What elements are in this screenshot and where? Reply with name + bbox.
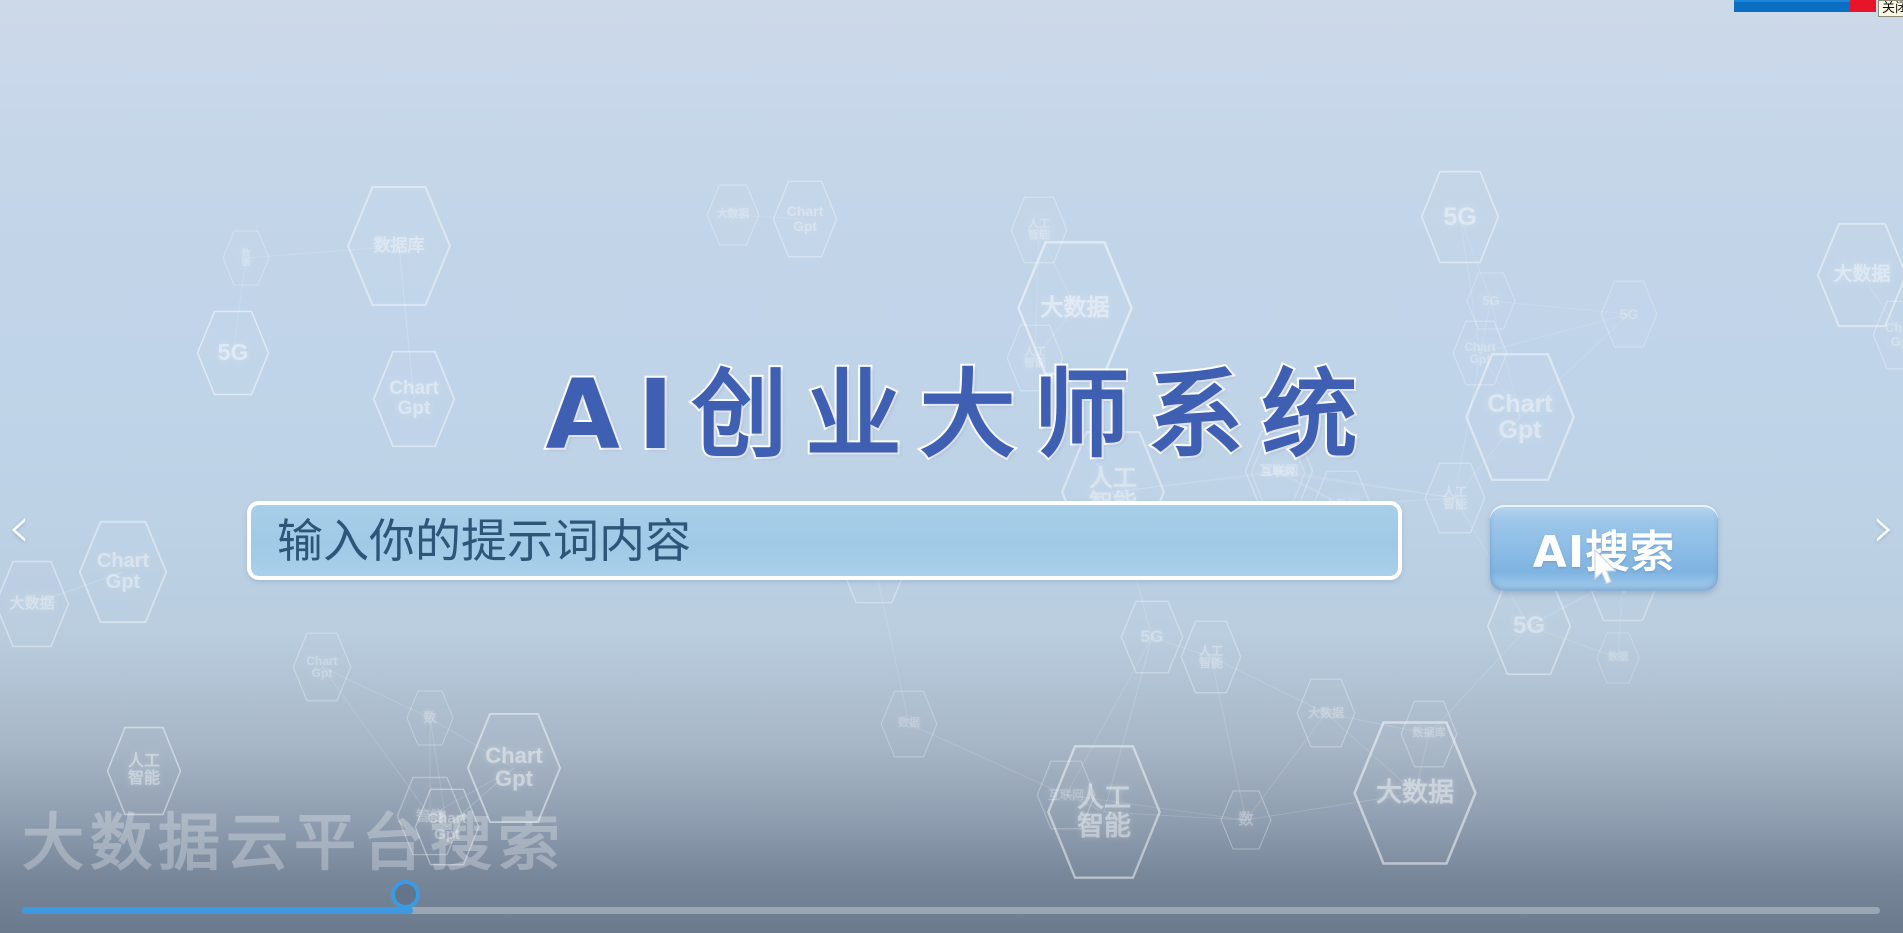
background-hexagon-label: 数据 [880, 690, 938, 758]
search-input[interactable] [251, 505, 1398, 576]
background-hexagon: 数据 [1596, 632, 1640, 684]
window-close-button[interactable] [1850, 0, 1876, 12]
background-hexagon-label: 大数据 [1296, 678, 1356, 748]
app-root: 数据库数 据5GChart GptChart Gpt大数据Chart Gpt数人… [0, 0, 1903, 933]
background-hexagon-label: 数 [1220, 790, 1272, 850]
background-hexagon: Chart Gpt [772, 180, 838, 258]
background-hexagon-label: 人工 智能 [1180, 620, 1242, 694]
background-hexagon: 人工 智能 [1046, 744, 1162, 880]
background-hexagon-label: 数据 [1596, 632, 1640, 684]
background-hexagon-label: Chart Gpt [466, 712, 562, 824]
background-hexagon: 数据 [880, 690, 938, 758]
background-hexagon: 5G [1420, 170, 1500, 264]
carousel-next-icon[interactable]: › [1861, 495, 1903, 559]
background-hexagon: 5G [1466, 272, 1516, 330]
background-hexagon-label: Chart Gpt [292, 632, 352, 702]
background-hexagon: Chart Gpt [292, 632, 352, 702]
background-hexagon-label: 人工 智能 [1010, 196, 1068, 264]
background-hexagon-label: 5G [1466, 272, 1516, 330]
search-row: AI搜索 [0, 500, 1903, 610]
slider-thumb[interactable] [391, 880, 420, 909]
background-hexagon: 人工 智能 [106, 726, 182, 816]
background-hexagon-label: Chart Gpt [772, 180, 838, 258]
background-hexagon: 大数据 [1352, 720, 1478, 866]
background-hexagon: 5G [1120, 600, 1184, 674]
background-hexagon-label: 大数据 [1352, 720, 1478, 866]
background-hexagon: 智能 [396, 776, 464, 856]
background-hexagon-label: 人工 智能 [1046, 744, 1162, 880]
background-hexagon: Chart Gpt [414, 788, 480, 866]
background-hexagon: 互联网 [1036, 760, 1096, 830]
background-hexagon: 数据库 [1400, 700, 1458, 768]
background-hexagon-label: 互联网 [1036, 760, 1096, 830]
background-hexagon-label: 智能 [396, 776, 464, 856]
background-hexagon: 数 [406, 690, 454, 746]
ai-search-button[interactable]: AI搜索 [1490, 505, 1718, 591]
background-hexagon: 大数据 [1816, 222, 1903, 328]
background-hexagon-label: 数 据 [222, 230, 270, 286]
background-hexagon: 数据库 [346, 185, 452, 307]
background-hexagon: Chart Gpt [466, 712, 562, 824]
background-hexagon: 人工 智能 [1010, 196, 1068, 264]
background-hexagon-label: 数据库 [346, 185, 452, 307]
background-hexagon: 数 [1220, 790, 1272, 850]
background-hexagon-label: Chart Gpt [414, 788, 480, 866]
background-hexagon-label: 大数据 [706, 184, 760, 246]
slider-fill [22, 907, 413, 914]
background-hexagon: 大数据 [706, 184, 760, 246]
background-watermark-text: 大数据云平台搜索 [22, 792, 566, 882]
background-hexagon-label: 5G [1120, 600, 1184, 674]
search-input-container[interactable] [247, 501, 1402, 580]
carousel-prev-icon[interactable]: ‹ [0, 495, 42, 559]
background-hexagon-label: 5G [1420, 170, 1500, 264]
bottom-slider[interactable] [0, 891, 1903, 933]
close-tooltip: 关闭 [1878, 0, 1903, 17]
slider-track[interactable] [22, 907, 1880, 914]
background-hexagon-label: 大数据 [1816, 222, 1903, 328]
background-hexagon-label: 数据库 [1400, 700, 1458, 768]
background-hexagon-label: 人工 智能 [106, 726, 182, 816]
background-hexagon: 数 据 [222, 230, 270, 286]
background-hexagon-label: 数 [406, 690, 454, 746]
page-title: AI创业大师系统 [0, 337, 1903, 476]
background-hexagon: 人工 智能 [1180, 620, 1242, 694]
background-hexagon: 大数据 [1296, 678, 1356, 748]
window-titlebar-strip [1734, 0, 1850, 12]
